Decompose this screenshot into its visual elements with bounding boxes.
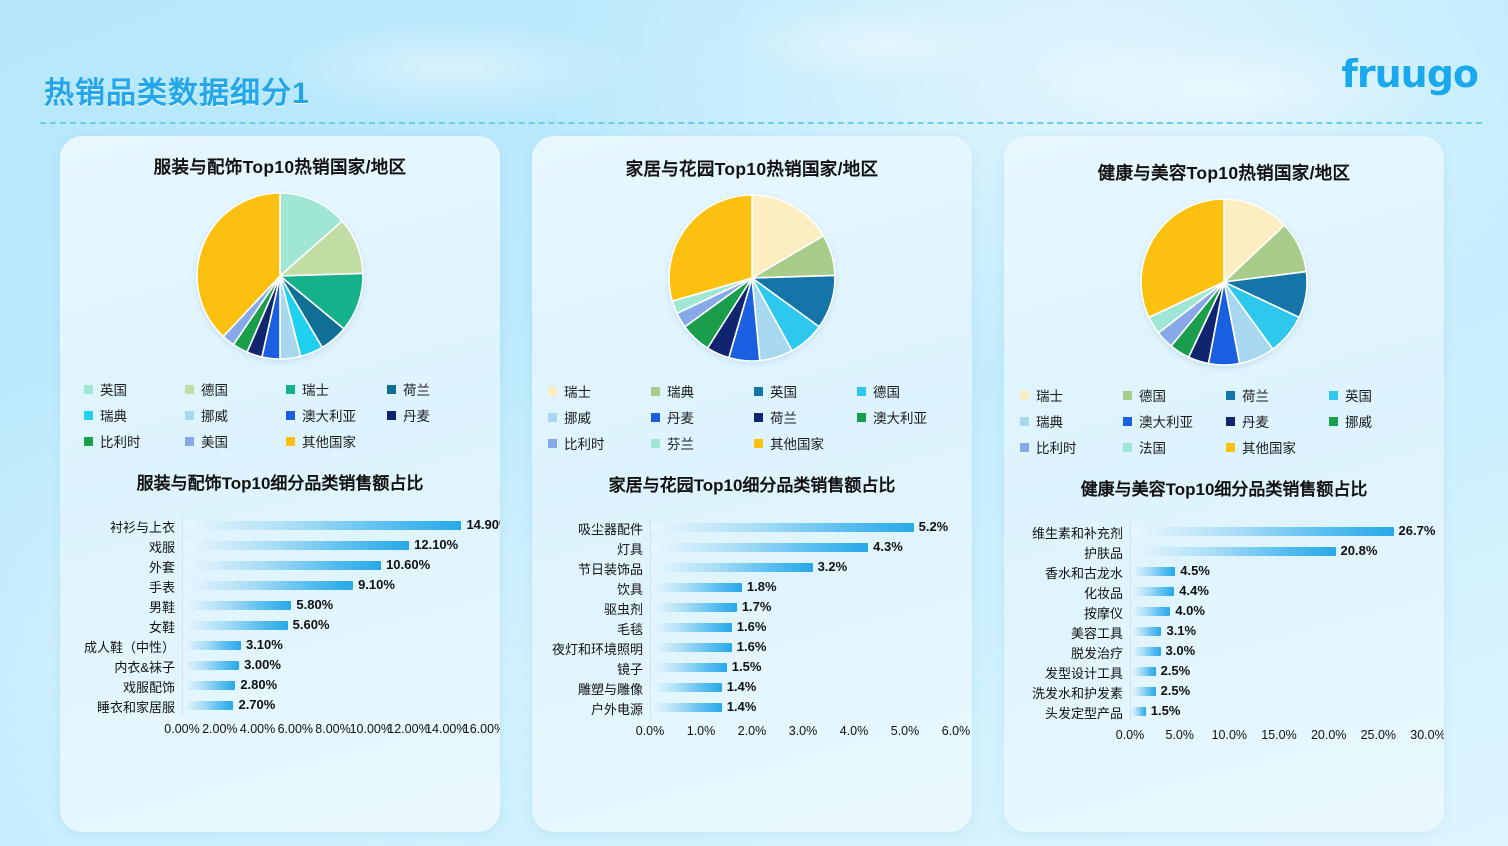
bar-value-label: 4.4% (1179, 583, 1209, 598)
bar-row: 户外电源 1.4% (546, 698, 954, 718)
bar-row: 按摩仪 4.0% (1018, 602, 1426, 622)
bar-track: 2.80% (182, 676, 482, 696)
axis-tick-label: 4.00% (240, 722, 275, 736)
bar-fill (651, 523, 914, 532)
bar-category-label: 外套 (74, 557, 182, 576)
bar-value-label: 10.60% (386, 557, 430, 572)
bar-fill (1131, 547, 1336, 556)
legend-swatch-icon (1329, 391, 1338, 400)
bar-category-label: 夜灯和环境照明 (546, 639, 650, 658)
bar-row: 美容工具 3.1% (1018, 622, 1426, 642)
bar-category-label: 内衣&袜子 (74, 657, 182, 676)
bar-category-label: 男鞋 (74, 597, 182, 616)
bar-fill (183, 561, 381, 570)
bar-value-label: 9.10% (358, 577, 395, 592)
bar-category-label: 发型设计工具 (1018, 663, 1130, 682)
legend-item[interactable]: 比利时 (84, 431, 183, 451)
axis-tick-label: 6.0% (942, 724, 971, 738)
legend-label: 丹麦 (667, 407, 694, 427)
bar-row: 发型设计工具 2.5% (1018, 662, 1426, 682)
bar-fill (651, 583, 742, 592)
legend-swatch-icon (1329, 417, 1338, 426)
axis-tick-label: 16.00% (463, 722, 500, 736)
bar-track: 1.5% (650, 658, 954, 678)
bar-chart-title: 健康与美容Top10细分品类销售额占比 (1004, 475, 1444, 500)
bar-category-label: 手表 (74, 577, 182, 596)
bar-row: 戏服配饰 2.80% (74, 676, 482, 696)
bar-value-label: 5.60% (293, 617, 330, 632)
legend-item[interactable]: 丹麦 (651, 407, 752, 427)
bar-value-label: 14.90% (466, 517, 500, 532)
bar-fill (651, 683, 722, 692)
bar-value-label: 1.4% (727, 699, 757, 714)
legend-item[interactable]: 丹麦 (387, 405, 486, 425)
bar-category-label: 戏服配饰 (74, 677, 182, 696)
bar-value-label: 2.5% (1161, 663, 1191, 678)
legend-item[interactable]: 澳大利亚 (286, 405, 385, 425)
bar-category-label: 化妆品 (1018, 583, 1130, 602)
bar-category-label: 户外电源 (546, 699, 650, 718)
legend-swatch-icon (185, 411, 194, 420)
legend-swatch-icon (387, 385, 396, 394)
bar-track: 14.90% (182, 516, 482, 536)
bar-fill (651, 563, 813, 572)
legend-label: 英国 (100, 379, 127, 399)
bar-fill (651, 603, 737, 612)
legend-item[interactable]: 其他国家 (754, 433, 855, 453)
bar-fill (1131, 587, 1174, 596)
axis-tick-label: 15.0% (1261, 728, 1296, 742)
bar-value-label: 1.6% (737, 639, 767, 654)
axis-tick-label: 2.0% (738, 724, 767, 738)
panel-health-beauty: 健康与美容Top10热销国家/地区 瑞士 德国 荷兰 英国 瑞典 澳大利亚 (1004, 136, 1444, 832)
header-divider (40, 122, 1482, 124)
legend-swatch-icon (286, 411, 295, 420)
legend-label: 荷兰 (403, 379, 430, 399)
legend-item[interactable]: 德国 (1123, 385, 1224, 405)
bar-category-label: 洗发水和护发素 (1018, 683, 1130, 702)
bar-track: 1.4% (650, 678, 954, 698)
axis-tick-label: 6.00% (278, 722, 313, 736)
bar-row: 衬衫与上衣 14.90% (74, 516, 482, 536)
bar-track: 3.2% (650, 558, 954, 578)
bar-row: 成人鞋（中性） 3.10% (74, 636, 482, 656)
bar-fill (651, 703, 722, 712)
legend-swatch-icon (857, 413, 866, 422)
legend-item[interactable]: 法国 (1123, 437, 1224, 457)
bar-track: 9.10% (182, 576, 482, 596)
bar-fill (183, 581, 353, 590)
bar-track: 2.70% (182, 696, 482, 716)
legend-swatch-icon (857, 387, 866, 396)
bar-value-label: 4.5% (1180, 563, 1210, 578)
bar-fill (1131, 707, 1146, 716)
bar-row: 维生素和补充剂 26.7% (1018, 522, 1426, 542)
axis-tick-label: 2.00% (202, 722, 237, 736)
bar-fill (1131, 527, 1394, 536)
bar-fill (651, 623, 732, 632)
bar-chart-title: 家居与花园Top10细分品类销售额占比 (532, 471, 972, 496)
bar-value-label: 4.3% (873, 539, 903, 554)
bar-row: 香水和古龙水 4.5% (1018, 562, 1426, 582)
bar-row: 手表 9.10% (74, 576, 482, 596)
bar-category-label: 女鞋 (74, 617, 182, 636)
axis-tick-label: 10.00% (350, 722, 392, 736)
bar-value-label: 2.70% (238, 697, 275, 712)
legend-item[interactable]: 比利时 (1020, 437, 1121, 457)
legend-label: 瑞典 (1036, 411, 1063, 431)
bar-fill (651, 663, 727, 672)
bar-track: 1.6% (650, 618, 954, 638)
bar-track: 26.7% (1130, 522, 1426, 542)
legend-item[interactable]: 挪威 (1329, 411, 1430, 431)
bar-row: 护肤品 20.8% (1018, 542, 1426, 562)
legend-item[interactable]: 瑞士 (1020, 385, 1121, 405)
legend-item[interactable]: 英国 (84, 379, 183, 399)
legend-swatch-icon (548, 439, 557, 448)
bar-track: 3.00% (182, 656, 482, 676)
bar-track: 5.60% (182, 616, 482, 636)
legend-item[interactable]: 瑞士 (286, 379, 385, 399)
legend-item[interactable]: 瑞典 (651, 381, 752, 401)
legend-swatch-icon (84, 411, 93, 420)
axis-tick-label: 25.0% (1361, 728, 1396, 742)
bar-value-label: 2.80% (240, 677, 277, 692)
bar-value-label: 3.1% (1166, 623, 1196, 638)
axis-tick-label: 20.0% (1311, 728, 1346, 742)
pie-chart-title: 健康与美容Top10热销国家/地区 (1004, 160, 1444, 185)
pie-legend: 瑞士 瑞典 英国 德国 挪威 丹麦 荷兰 澳大利亚 比利时 (532, 375, 972, 453)
bar-fill (651, 643, 732, 652)
legend-label: 挪威 (201, 405, 228, 425)
legend-item[interactable]: 美国 (185, 431, 284, 451)
bar-row: 吸尘器配件 5.2% (546, 518, 954, 538)
bar-value-label: 2.5% (1161, 683, 1191, 698)
bar-chart-title: 服装与配饰Top10细分品类销售额占比 (60, 469, 500, 494)
legend-label: 英国 (1345, 385, 1372, 405)
legend-item[interactable]: 瑞典 (84, 405, 183, 425)
bar-track: 3.1% (1130, 622, 1426, 642)
legend-label: 荷兰 (770, 407, 797, 427)
bar-fill (1131, 607, 1170, 616)
pie-chart-wrapper (60, 191, 500, 361)
bar-category-label: 戏服 (74, 537, 182, 556)
legend-label: 澳大利亚 (1139, 411, 1193, 431)
legend-label: 德国 (873, 381, 900, 401)
bar-value-label: 1.4% (727, 679, 757, 694)
bar-chart: 维生素和补充剂 26.7% 护肤品 20.8% 香水和古龙水 4.5% 化妆品 … (1004, 522, 1444, 746)
bar-fill (651, 543, 868, 552)
bar-row: 化妆品 4.4% (1018, 582, 1426, 602)
legend-label: 荷兰 (1242, 385, 1269, 405)
bar-fill (1131, 627, 1161, 636)
bar-category-label: 毛毯 (546, 619, 650, 638)
pie-legend: 瑞士 德国 荷兰 英国 瑞典 澳大利亚 丹麦 挪威 比利时 (1004, 379, 1444, 457)
legend-label: 比利时 (564, 433, 605, 453)
legend-item[interactable]: 德国 (185, 379, 284, 399)
legend-swatch-icon (1020, 391, 1029, 400)
pie-chart-wrapper (532, 193, 972, 363)
bar-row: 毛毯 1.6% (546, 618, 954, 638)
bar-value-label: 3.2% (818, 559, 848, 574)
bar-track: 4.0% (1130, 602, 1426, 622)
bar-fill (183, 661, 239, 670)
legend-label: 丹麦 (1242, 411, 1269, 431)
axis-tick-label: 5.0% (891, 724, 920, 738)
bar-category-label: 睡衣和家居服 (74, 697, 182, 716)
legend-label: 澳大利亚 (873, 407, 927, 427)
bar-fill (183, 601, 291, 610)
legend-swatch-icon (84, 385, 93, 394)
pie-chart (667, 193, 837, 363)
axis-tick-label: 4.0% (840, 724, 869, 738)
bar-category-label: 灯具 (546, 539, 650, 558)
legend-label: 其他国家 (1242, 437, 1296, 457)
bar-category-label: 护肤品 (1018, 543, 1130, 562)
bar-value-label: 5.80% (296, 597, 333, 612)
legend-label: 瑞士 (1036, 385, 1063, 405)
bar-row: 头发定型产品 1.5% (1018, 702, 1426, 722)
bar-track: 4.3% (650, 538, 954, 558)
legend-label: 德国 (201, 379, 228, 399)
legend-item[interactable]: 挪威 (548, 407, 649, 427)
bar-row: 饮具 1.8% (546, 578, 954, 598)
pie-chart (195, 191, 365, 361)
bar-value-label: 3.0% (1166, 643, 1196, 658)
bar-value-label: 26.7% (1399, 523, 1436, 538)
legend-swatch-icon (1123, 417, 1132, 426)
bar-category-label: 按摩仪 (1018, 603, 1130, 622)
bar-fill (1131, 667, 1156, 676)
axis-tick-label: 30.0% (1410, 728, 1444, 742)
bar-row: 内衣&袜子 3.00% (74, 656, 482, 676)
bar-track: 4.4% (1130, 582, 1426, 602)
legend-label: 其他国家 (770, 433, 824, 453)
axis-tick-label: 1.0% (687, 724, 716, 738)
bar-value-label: 3.10% (246, 637, 283, 652)
bar-row: 脱发治疗 3.0% (1018, 642, 1426, 662)
legend-item[interactable]: 德国 (857, 381, 958, 401)
bar-track: 1.4% (650, 698, 954, 718)
bar-fill (1131, 687, 1156, 696)
legend-swatch-icon (185, 437, 194, 446)
legend-label: 瑞典 (100, 405, 127, 425)
bar-category-label: 节日装饰品 (546, 559, 650, 578)
bar-track: 2.5% (1130, 662, 1426, 682)
bar-category-label: 香水和古龙水 (1018, 563, 1130, 582)
bar-chart: 衬衫与上衣 14.90% 戏服 12.10% 外套 10.60% 手表 9.10… (60, 516, 500, 740)
panel-apparel: 服装与配饰Top10热销国家/地区 英国 德国 瑞士 荷兰 瑞典 挪威 澳 (60, 136, 500, 832)
legend-swatch-icon (84, 437, 93, 446)
legend-swatch-icon (548, 413, 557, 422)
legend-swatch-icon (651, 413, 660, 422)
legend-item[interactable]: 荷兰 (754, 407, 855, 427)
bar-row: 雕塑与雕像 1.4% (546, 678, 954, 698)
legend-swatch-icon (387, 411, 396, 420)
legend-label: 英国 (770, 381, 797, 401)
legend-swatch-icon (185, 385, 194, 394)
panel-container: 服装与配饰Top10热销国家/地区 英国 德国 瑞士 荷兰 瑞典 挪威 澳 (0, 136, 1508, 836)
legend-label: 芬兰 (667, 433, 694, 453)
legend-item[interactable]: 瑞典 (1020, 411, 1121, 431)
bar-row: 外套 10.60% (74, 556, 482, 576)
legend-item[interactable]: 芬兰 (651, 433, 752, 453)
pie-chart-title: 服装与配饰Top10热销国家/地区 (60, 154, 500, 179)
bar-track: 1.8% (650, 578, 954, 598)
x-axis: 0.0%1.0%2.0%3.0%4.0%5.0%6.0% (546, 724, 954, 742)
legend-label: 比利时 (1036, 437, 1077, 457)
bar-value-label: 4.0% (1175, 603, 1205, 618)
axis-tick-label: 8.00% (315, 722, 350, 736)
legend-swatch-icon (286, 437, 295, 446)
bar-category-label: 成人鞋（中性） (74, 637, 182, 656)
legend-swatch-icon (754, 439, 763, 448)
bar-fill (183, 521, 461, 530)
axis-tick-label: 0.00% (164, 722, 199, 736)
bar-track: 20.8% (1130, 542, 1426, 562)
legend-swatch-icon (1123, 443, 1132, 452)
bar-track: 1.6% (650, 638, 954, 658)
bar-row: 女鞋 5.60% (74, 616, 482, 636)
bar-track: 4.5% (1130, 562, 1426, 582)
pie-legend: 英国 德国 瑞士 荷兰 瑞典 挪威 澳大利亚 丹麦 比利时 (60, 373, 500, 451)
pie-chart-wrapper (1004, 197, 1444, 367)
bar-value-label: 1.5% (1151, 703, 1181, 718)
legend-item[interactable]: 英国 (1329, 385, 1430, 405)
legend-swatch-icon (286, 385, 295, 394)
legend-label: 比利时 (100, 431, 141, 451)
bar-row: 灯具 4.3% (546, 538, 954, 558)
bar-category-label: 吸尘器配件 (546, 519, 650, 538)
bar-row: 洗发水和护发素 2.5% (1018, 682, 1426, 702)
bar-fill (183, 641, 241, 650)
page-title: 热销品类数据细分1 (44, 68, 310, 112)
pie-chart (1139, 197, 1309, 367)
bar-fill (183, 621, 288, 630)
legend-label: 其他国家 (302, 431, 356, 451)
legend-label: 瑞士 (302, 379, 329, 399)
bar-value-label: 1.6% (737, 619, 767, 634)
legend-swatch-icon (754, 413, 763, 422)
legend-label: 德国 (1139, 385, 1166, 405)
legend-swatch-icon (651, 387, 660, 396)
legend-label: 澳大利亚 (302, 405, 356, 425)
fruugo-logo: fruugo (1341, 52, 1478, 96)
bar-track: 5.80% (182, 596, 482, 616)
legend-label: 瑞典 (667, 381, 694, 401)
pie-chart-title: 家居与花园Top10热销国家/地区 (532, 156, 972, 181)
bar-value-label: 1.5% (732, 659, 762, 674)
axis-tick-label: 0.0% (636, 724, 665, 738)
bar-chart: 吸尘器配件 5.2% 灯具 4.3% 节日装饰品 3.2% 饮具 1.8% (532, 518, 972, 742)
bar-category-label: 美容工具 (1018, 623, 1130, 642)
bar-value-label: 20.8% (1341, 543, 1378, 558)
bar-row: 睡衣和家居服 2.70% (74, 696, 482, 716)
axis-tick-label: 12.00% (387, 722, 429, 736)
bar-track: 10.60% (182, 556, 482, 576)
legend-swatch-icon (651, 439, 660, 448)
bar-track: 3.10% (182, 636, 482, 656)
axis-tick-label: 3.0% (789, 724, 818, 738)
bar-track: 2.5% (1130, 682, 1426, 702)
bar-fill (1131, 567, 1175, 576)
legend-item[interactable]: 其他国家 (286, 431, 385, 451)
bar-category-label: 衬衫与上衣 (74, 517, 182, 536)
legend-label: 瑞士 (564, 381, 591, 401)
legend-swatch-icon (1123, 391, 1132, 400)
legend-item[interactable]: 荷兰 (1226, 385, 1327, 405)
legend-label: 法国 (1139, 437, 1166, 457)
legend-swatch-icon (548, 387, 557, 396)
bar-value-label: 5.2% (919, 519, 949, 534)
bar-track: 5.2% (650, 518, 954, 538)
bar-value-label: 1.8% (747, 579, 777, 594)
legend-item[interactable]: 澳大利亚 (1123, 411, 1224, 431)
axis-tick-label: 14.00% (425, 722, 467, 736)
bar-value-label: 1.7% (742, 599, 772, 614)
bar-category-label: 驱虫剂 (546, 599, 650, 618)
bar-row: 节日装饰品 3.2% (546, 558, 954, 578)
bar-fill (183, 681, 235, 690)
bar-track: 1.7% (650, 598, 954, 618)
bar-row: 男鞋 5.80% (74, 596, 482, 616)
x-axis: 0.0%5.0%10.0%15.0%20.0%25.0%30.0% (1018, 728, 1426, 746)
legend-item[interactable]: 比利时 (548, 433, 649, 453)
bar-row: 镜子 1.5% (546, 658, 954, 678)
legend-item[interactable]: 英国 (754, 381, 855, 401)
legend-swatch-icon (1226, 391, 1235, 400)
bar-fill (183, 541, 409, 550)
bar-fill (1131, 647, 1161, 656)
bar-value-label: 3.00% (244, 657, 281, 672)
bar-track: 1.5% (1130, 702, 1426, 722)
legend-item[interactable]: 丹麦 (1226, 411, 1327, 431)
bar-track: 12.10% (182, 536, 482, 556)
legend-item[interactable]: 其他国家 (1226, 437, 1327, 457)
legend-swatch-icon (1020, 443, 1029, 452)
legend-swatch-icon (1226, 417, 1235, 426)
bar-value-label: 12.10% (414, 537, 458, 552)
bar-category-label: 脱发治疗 (1018, 643, 1130, 662)
legend-swatch-icon (754, 387, 763, 396)
axis-tick-label: 5.0% (1165, 728, 1194, 742)
x-axis: 0.00%2.00%4.00%6.00%8.00%10.00%12.00%14.… (74, 722, 482, 740)
legend-swatch-icon (1020, 417, 1029, 426)
axis-tick-label: 0.0% (1116, 728, 1145, 742)
legend-swatch-icon (1226, 443, 1235, 452)
legend-label: 挪威 (1345, 411, 1372, 431)
bar-category-label: 维生素和补充剂 (1018, 523, 1130, 542)
bar-row: 夜灯和环境照明 1.6% (546, 638, 954, 658)
bar-track: 3.0% (1130, 642, 1426, 662)
bar-category-label: 雕塑与雕像 (546, 679, 650, 698)
bar-row: 戏服 12.10% (74, 536, 482, 556)
panel-home-garden: 家居与花园Top10热销国家/地区 瑞士 瑞典 英国 德国 挪威 丹麦 荷 (532, 136, 972, 832)
legend-label: 挪威 (564, 407, 591, 427)
legend-label: 美国 (201, 431, 228, 451)
legend-item[interactable]: 挪威 (185, 405, 284, 425)
legend-label: 丹麦 (403, 405, 430, 425)
legend-item[interactable]: 荷兰 (387, 379, 486, 399)
bar-row: 驱虫剂 1.7% (546, 598, 954, 618)
bar-fill (183, 701, 233, 710)
bar-category-label: 头发定型产品 (1018, 703, 1130, 722)
axis-tick-label: 10.0% (1212, 728, 1247, 742)
bar-category-label: 饮具 (546, 579, 650, 598)
legend-item[interactable]: 瑞士 (548, 381, 649, 401)
legend-item[interactable]: 澳大利亚 (857, 407, 958, 427)
bar-category-label: 镜子 (546, 659, 650, 678)
